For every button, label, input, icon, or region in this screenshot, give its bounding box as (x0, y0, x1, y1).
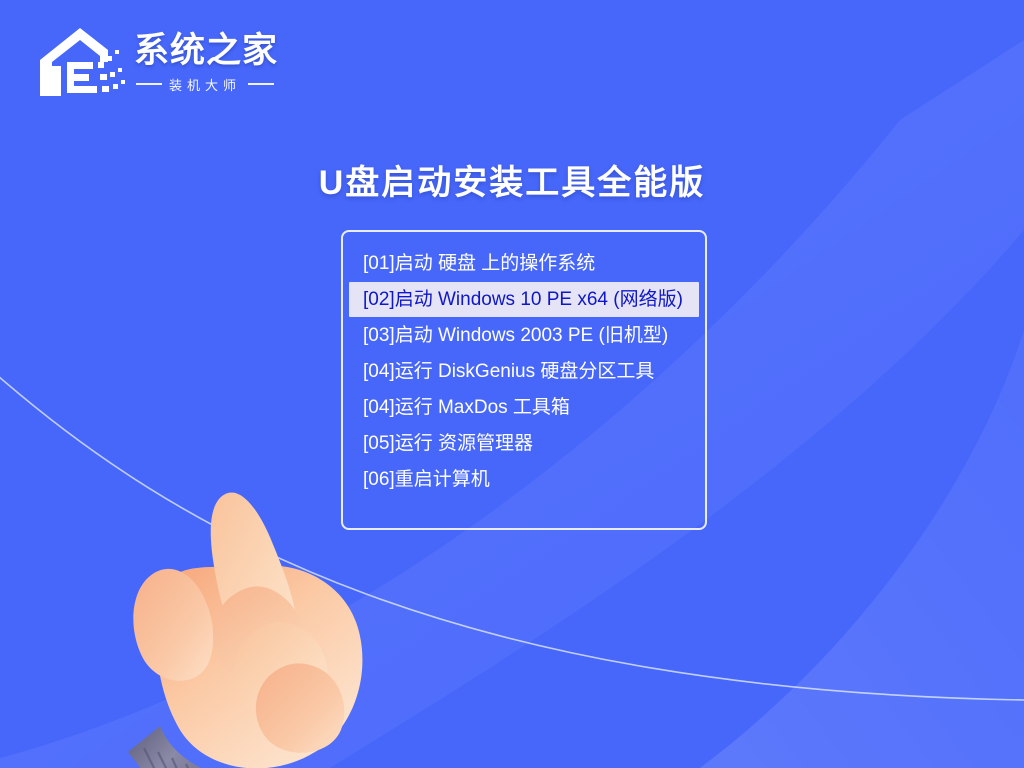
house-pixel-logo-icon (36, 22, 128, 102)
boot-menu-item-01[interactable]: [01]启动 硬盘 上的操作系统 (349, 246, 699, 281)
brand-tagline: 装机大师 (169, 75, 241, 94)
background-swoosh-lower-right (700, 330, 1024, 768)
boot-menu-screen: 系统之家 装机大师 U盘启动安装工具全能版 [01]启动 硬盘 上的操作系统[0… (0, 0, 1024, 768)
brand-logo: 系统之家 装机大师 (36, 16, 296, 108)
boot-menu-item-04[interactable]: [04]运行 MaxDos 工具箱 (349, 390, 699, 425)
brand-tagline-row: 装机大师 (134, 75, 278, 94)
boot-menu-list: [01]启动 硬盘 上的操作系统[02]启动 Windows 10 PE x64… (343, 246, 705, 497)
tagline-dash-left (136, 83, 162, 85)
brand-name: 系统之家 (134, 32, 278, 70)
tagline-dash-right (248, 83, 274, 85)
boot-menu-item-05[interactable]: [05]运行 资源管理器 (349, 426, 699, 461)
boot-menu-item-03[interactable]: [03]启动 Windows 2003 PE (旧机型) (349, 318, 699, 353)
pointing-hand-illustration (110, 480, 410, 768)
boot-menu-item-02[interactable]: [02]启动 Windows 10 PE x64 (网络版) (349, 282, 699, 317)
page-title: U盘启动安装工具全能版 (0, 155, 1024, 204)
boot-menu-item-04[interactable]: [04]运行 DiskGenius 硬盘分区工具 (349, 354, 699, 389)
